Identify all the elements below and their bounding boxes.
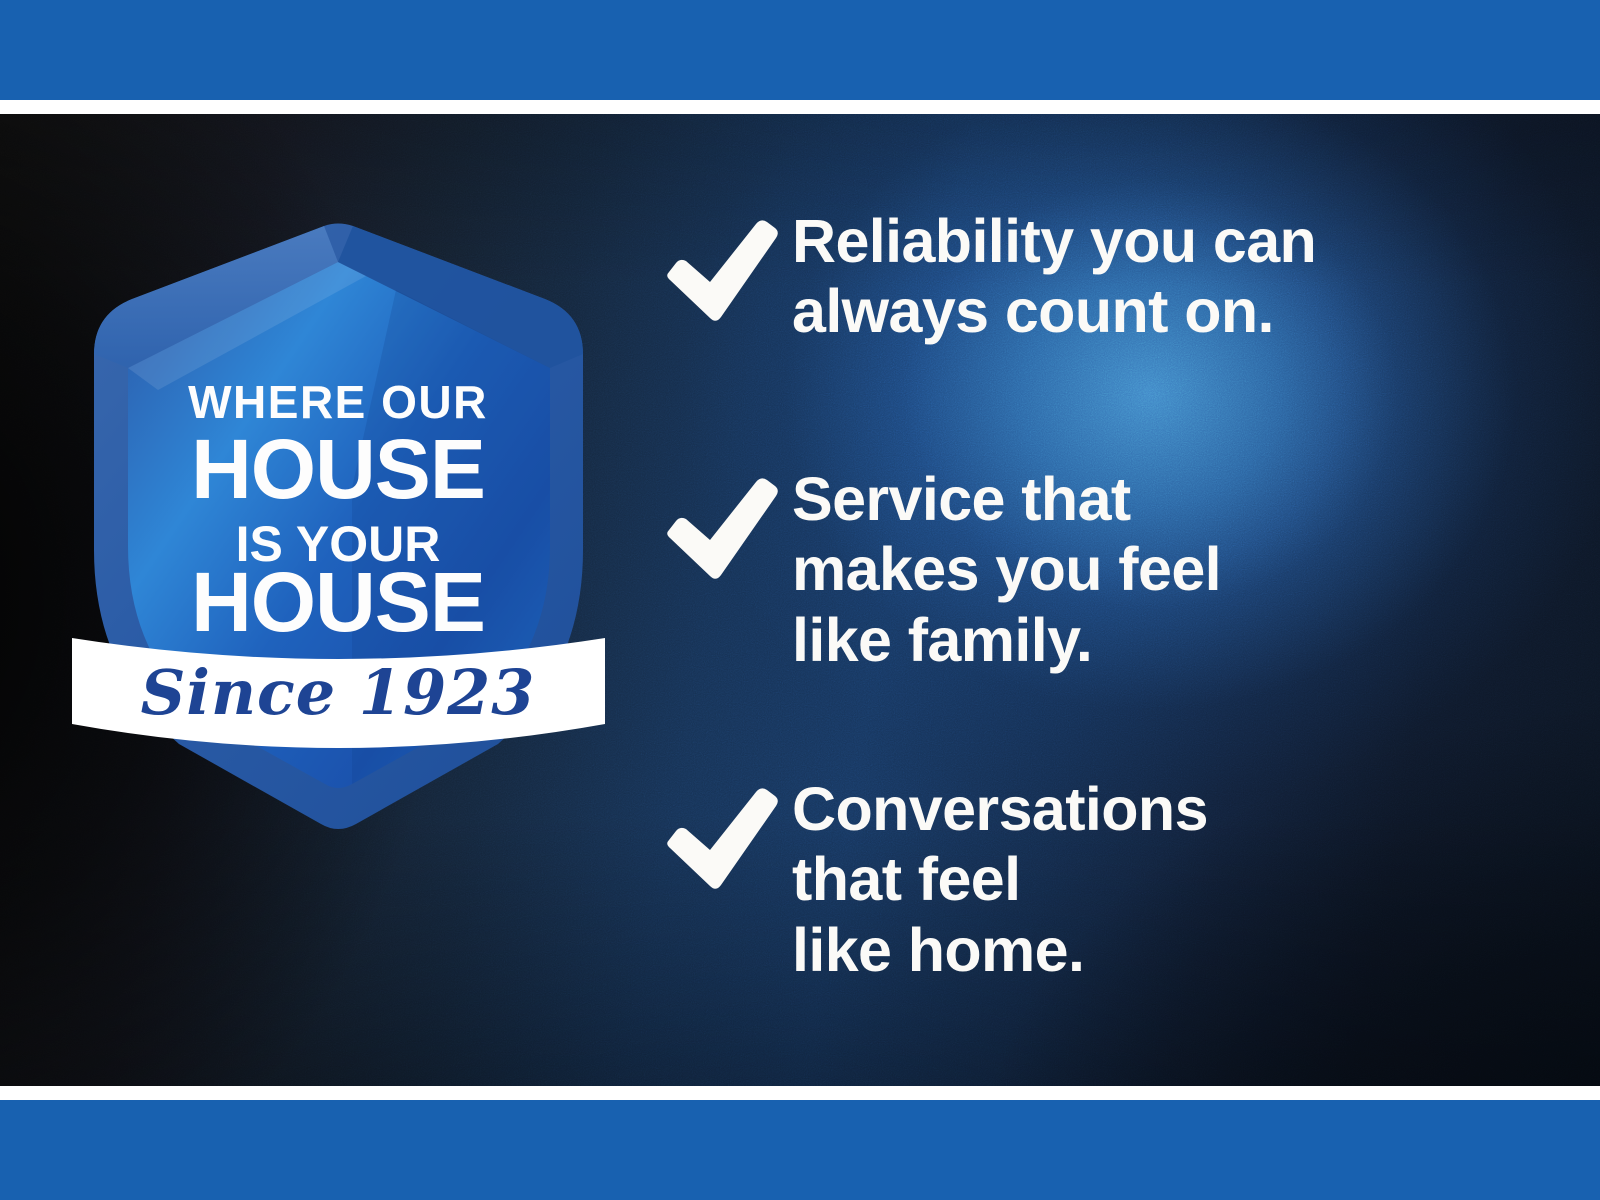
ribbon-text: Since 1923 bbox=[141, 656, 536, 729]
badge-line-4: HOUSE bbox=[191, 555, 485, 649]
badge-line-1: WHERE OUR bbox=[188, 376, 488, 428]
bullet-item: Reliability you canalways count on. bbox=[660, 210, 1316, 347]
top-brand-bar bbox=[0, 0, 1600, 100]
badge-line-2: HOUSE bbox=[191, 422, 485, 516]
checkmark-icon bbox=[660, 210, 792, 330]
bullet-text: Conversationsthat feellike home. bbox=[792, 774, 1208, 985]
bullet-item: Service thatmakes you feellike family. bbox=[660, 468, 1221, 675]
bottom-brand-bar bbox=[0, 1100, 1600, 1200]
checkmark-icon bbox=[660, 468, 792, 588]
shield-badge: WHERE OUR HOUSE IS YOUR HOUSE Since 1923 bbox=[66, 158, 611, 838]
bullet-item: Conversationsthat feellike home. bbox=[660, 778, 1208, 985]
bullet-list: Reliability you canalways count on. Serv… bbox=[660, 114, 1540, 1086]
bullet-text: Reliability you canalways count on. bbox=[792, 206, 1316, 347]
promo-graphic: WHERE OUR HOUSE IS YOUR HOUSE Since 1923… bbox=[0, 0, 1600, 1200]
checkmark-icon bbox=[660, 778, 792, 898]
bullet-text: Service thatmakes you feellike family. bbox=[792, 464, 1221, 675]
